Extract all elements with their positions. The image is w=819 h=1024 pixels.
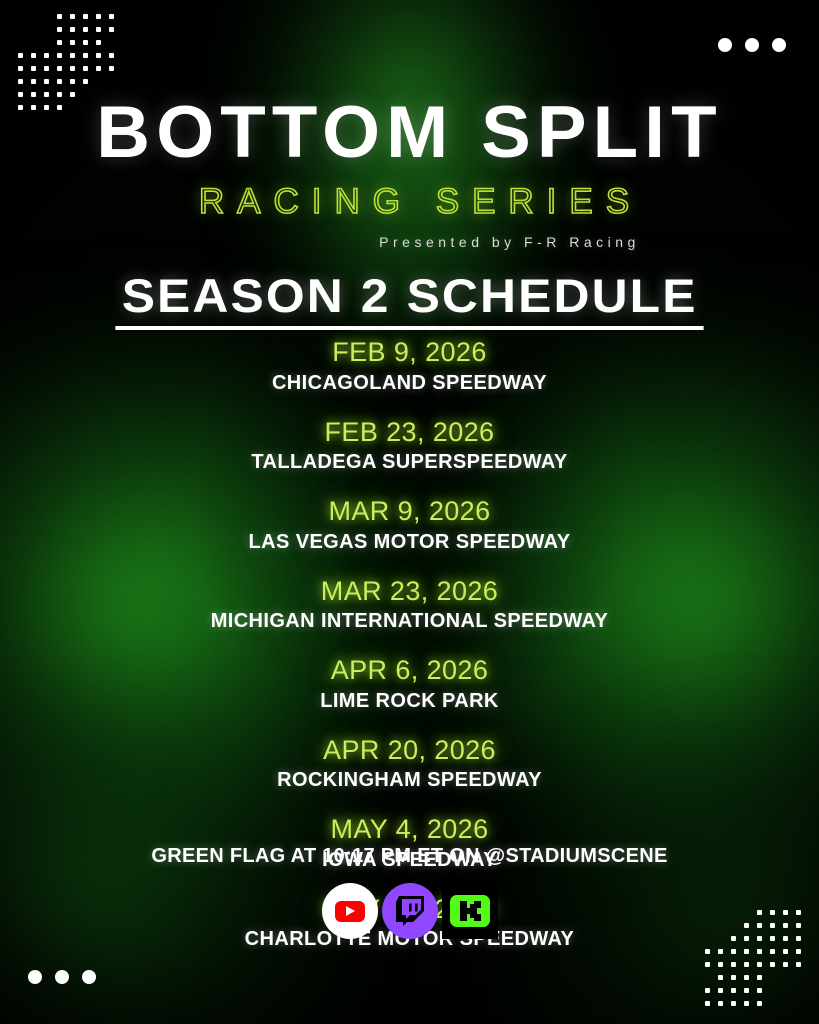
social-links [0,883,819,939]
schedule-row: MAR 23, 2026MICHIGAN INTERNATIONAL SPEED… [0,574,819,635]
race-venue: MICHIGAN INTERNATIONAL SPEEDWAY [0,608,819,634]
race-date: APR 6, 2026 [0,653,819,688]
race-date: MAR 9, 2026 [0,494,819,529]
schedule-row: FEB 23, 2026TALLADEGA SUPERSPEEDWAY [0,415,819,476]
youtube-play-glyph [346,906,355,916]
schedule-row: APR 6, 2026LIME ROCK PARK [0,653,819,714]
race-date: MAY 4, 2026 [0,812,819,847]
season-heading: SEASON 2 SCHEDULE [0,268,819,330]
twitch-link[interactable] [382,883,438,939]
green-flag-note: GREEN FLAG AT 10:17 PM ET ON @STADIUMSCE… [0,845,819,868]
schedule-row: APR 20, 2026ROCKINGHAM SPEEDWAY [0,733,819,794]
schedule-row: FEB 9, 2026CHICAGOLAND SPEEDWAY [0,335,819,396]
kick-icon [442,883,498,939]
brand-header: BOTTOM SPLIT RACING SERIES Presented by … [0,96,819,250]
schedule-list: FEB 9, 2026CHICAGOLAND SPEEDWAYFEB 23, 2… [0,335,819,971]
race-venue: ROCKINGHAM SPEEDWAY [0,767,819,793]
youtube-link[interactable] [322,883,378,939]
kick-link[interactable] [442,883,498,939]
race-venue: CHICAGOLAND SPEEDWAY [0,370,819,396]
race-date: APR 20, 2026 [0,733,819,768]
page-title: BOTTOM SPLIT [0,96,819,170]
race-date: FEB 9, 2026 [0,335,819,370]
poster-content: BOTTOM SPLIT RACING SERIES Presented by … [0,0,819,1024]
race-venue: LIME ROCK PARK [0,688,819,714]
race-venue: TALLADEGA SUPERSPEEDWAY [0,449,819,475]
kick-glyph [448,891,492,931]
brand-subtitle: RACING SERIES [0,182,819,222]
race-venue: LAS VEGAS MOTOR SPEEDWAY [0,529,819,555]
youtube-icon-body [335,901,365,922]
schedule-row: MAR 9, 2026LAS VEGAS MOTOR SPEEDWAY [0,494,819,555]
twitch-glyph [396,896,424,926]
season-heading-label: SEASON 2 SCHEDULE [115,268,704,330]
race-date: MAR 23, 2026 [0,574,819,609]
youtube-icon [322,883,378,939]
twitch-icon [382,883,438,939]
poster-canvas: BOTTOM SPLIT RACING SERIES Presented by … [0,0,819,1024]
presented-by-text: Presented by F-R Racing [0,234,819,250]
race-date: FEB 23, 2026 [0,415,819,450]
